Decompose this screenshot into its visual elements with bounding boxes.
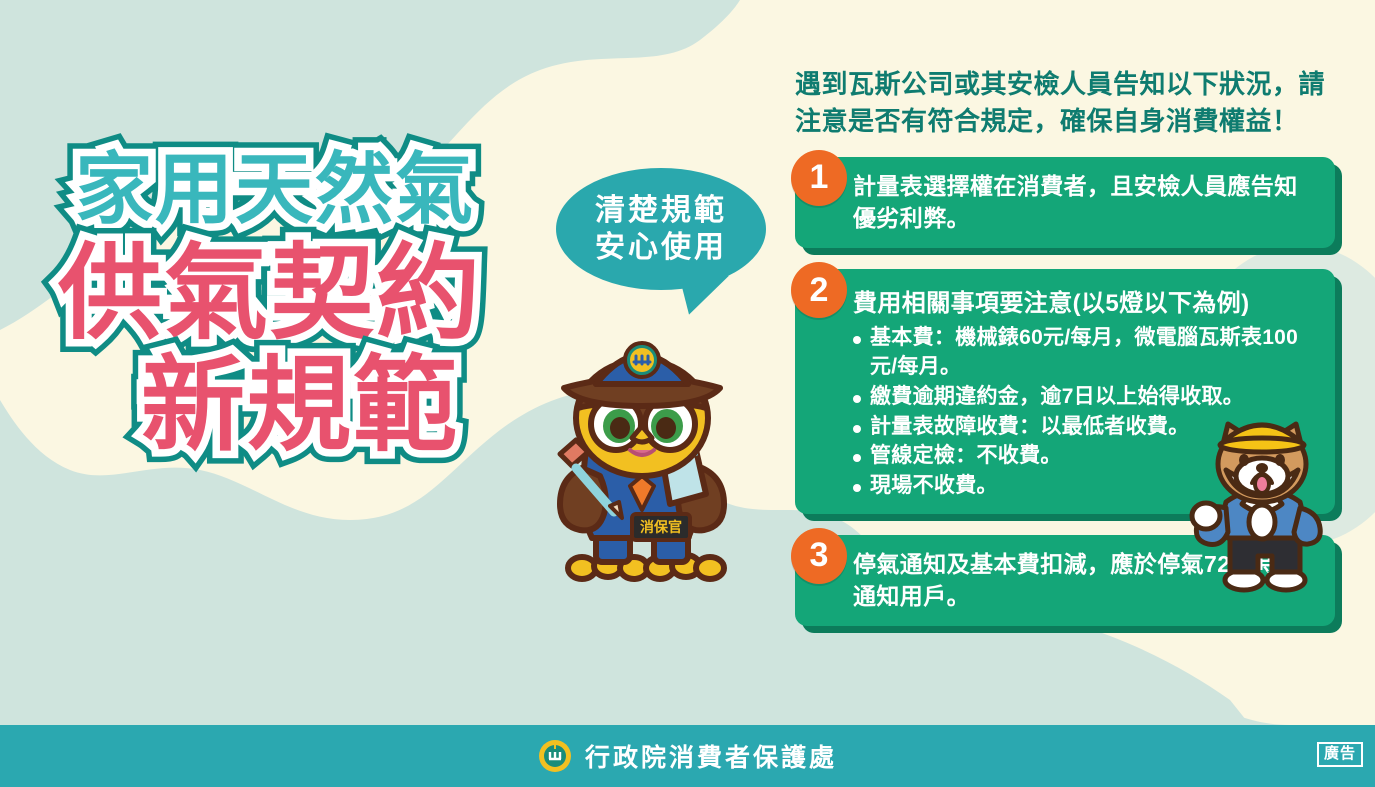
intro-paragraph: 遇到瓦斯公司或其安檢人員告知以下狀況，請注意是否有符合規定，確保自身消費權益！ <box>795 66 1335 140</box>
footer-org-block: 行政院消費者保護處 <box>0 725 1375 787</box>
title-line-3: 新規範 新規範 新規範 <box>40 354 560 466</box>
title-line-2: 供氣契約 供氣契約 供氣契約 <box>0 242 560 354</box>
slogan-line-2: 安心使用 <box>595 229 727 267</box>
footer-org-name: 行政院消費者保護處 <box>585 738 837 774</box>
card-1-text: 計量表選擇權在消費者，且安檢人員應告知優劣利弊。 <box>853 171 1317 234</box>
slogan-speech-bubble: 清楚規範 安心使用 <box>556 168 766 290</box>
footer-bar: 行政院消費者保護處 廣告 <box>0 725 1375 787</box>
title-line-3-fill: 新規範 <box>40 354 560 458</box>
poster-title: 家用天然氣 家用天然氣 家用天然氣 供氣契約 供氣契約 供氣契約 新規範 新規範… <box>0 150 560 466</box>
government-seal-icon <box>538 739 572 773</box>
card-3-number: 3 <box>791 528 847 584</box>
slogan-line-1: 清楚規範 <box>595 192 727 230</box>
owl-badge-label: 消保官 <box>640 519 682 535</box>
card-1-number: 1 <box>791 150 847 206</box>
card-2-number: 2 <box>791 262 847 318</box>
title-line-2-fill: 供氣契約 <box>0 242 560 346</box>
slogan-text: 清楚規範 安心使用 <box>556 168 766 290</box>
card-2-heading: 費用相關事項要注意(以5燈以下為例) <box>853 283 1319 318</box>
card-1-body: 計量表選擇權在消費者，且安檢人員應告知優劣利弊。 <box>795 157 1335 248</box>
list-item: 基本費：機械錶60元/每月，微電腦瓦斯表100元/每月。 <box>853 324 1319 382</box>
owl-officer-mascot: 消保官 <box>520 300 760 590</box>
title-line-1-fill: 家用天然氣 <box>0 150 560 228</box>
advertisement-badge: 廣告 <box>1317 742 1363 767</box>
shiba-worker-mascot <box>1178 418 1348 593</box>
list-item: 繳費逾期違約金，逾7日以上始得收取。 <box>853 383 1319 412</box>
info-card-1[interactable]: 1 計量表選擇權在消費者，且安檢人員應告知優劣利弊。 <box>795 157 1335 248</box>
title-line-1: 家用天然氣 家用天然氣 家用天然氣 <box>0 150 560 242</box>
